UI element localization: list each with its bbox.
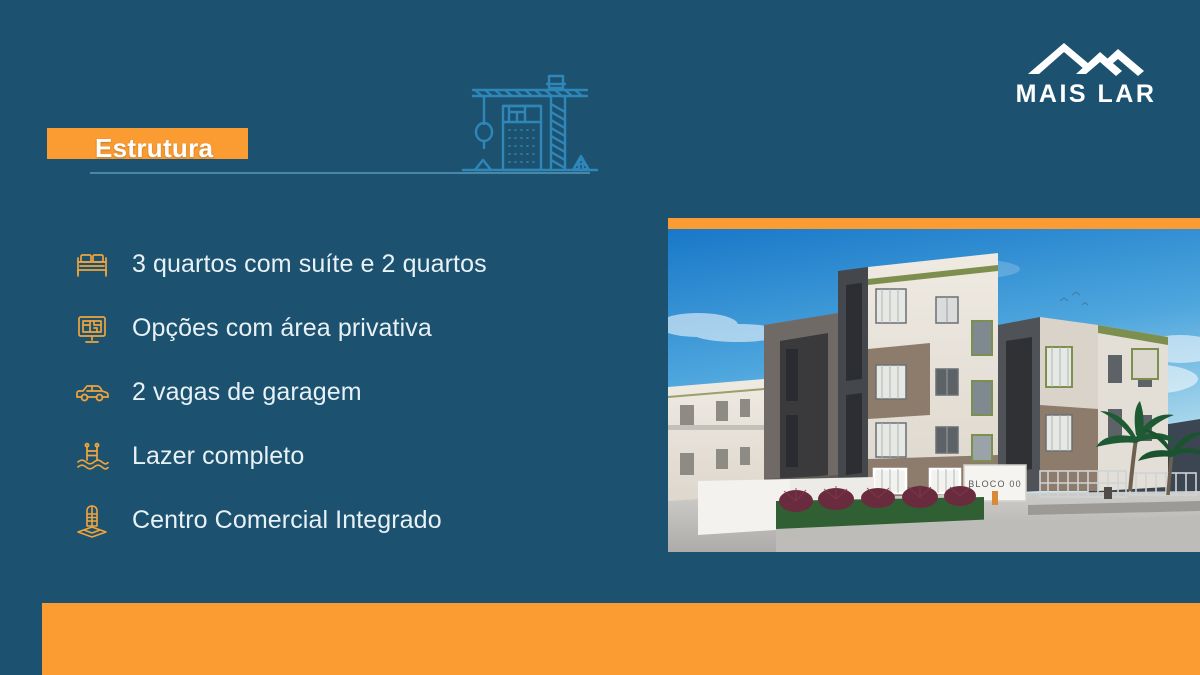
list-item-label: 2 vagas de garagem bbox=[132, 379, 362, 407]
commercial-tower-icon bbox=[72, 501, 112, 541]
swimming-pool-icon bbox=[72, 437, 112, 477]
list-item-label: 3 quartos com suíte e 2 quartos bbox=[132, 251, 487, 279]
list-item: Lazer completo bbox=[72, 436, 632, 478]
render-top-accent-bar bbox=[668, 218, 1200, 229]
bottom-accent-band bbox=[42, 603, 1200, 675]
list-item-label: Centro Comercial Integrado bbox=[132, 507, 442, 535]
list-item: Centro Comercial Integrado bbox=[72, 500, 632, 542]
car-icon bbox=[72, 373, 112, 413]
mountain-roof-icon bbox=[1026, 38, 1146, 78]
brand-name: MAIS LAR bbox=[1016, 82, 1157, 107]
page-title: Estrutura bbox=[95, 132, 213, 165]
bed-icon bbox=[72, 245, 112, 285]
list-item-label: Lazer completo bbox=[132, 443, 304, 471]
list-item: Opções com área privativa bbox=[72, 308, 632, 350]
title-underline bbox=[90, 172, 590, 174]
project-render-panel: BLOCO 00 bbox=[668, 218, 1200, 552]
list-item: 3 quartos com suíte e 2 quartos bbox=[72, 244, 632, 286]
project-render-image: BLOCO 00 bbox=[668, 229, 1200, 552]
brand-logo: MAIS LAR bbox=[1002, 38, 1170, 120]
presentation-slide: MAIS LAR bbox=[0, 0, 1200, 675]
list-item: 2 vagas de garagem bbox=[72, 372, 632, 414]
list-item-label: Opções com área privativa bbox=[132, 315, 432, 343]
feature-list: 3 quartos com suíte e 2 quartos Opções c… bbox=[72, 244, 632, 542]
slide-title-group: Estrutura bbox=[0, 120, 620, 190]
svg-text:BLOCO 00: BLOCO 00 bbox=[968, 479, 1022, 489]
blueprint-monitor-icon bbox=[72, 309, 112, 349]
